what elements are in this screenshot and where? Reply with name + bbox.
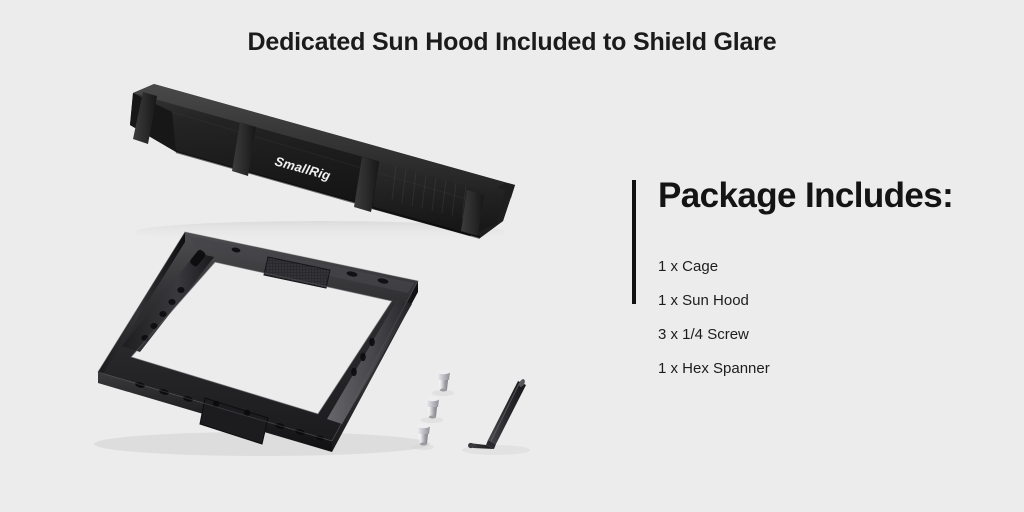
list-item: 3 x 1/4 Screw: [658, 318, 770, 352]
package-includes-list: 1 x Cage 1 x Sun Hood 3 x 1/4 Screw 1 x …: [658, 250, 770, 386]
quarter-inch-screws: [412, 370, 454, 450]
screw: [412, 424, 434, 450]
list-item: 1 x Cage: [658, 250, 770, 284]
hex-spanner: [462, 378, 530, 455]
product-feature-banner: Dedicated Sun Hood Included to Shield Gl…: [0, 0, 1024, 512]
screw: [432, 370, 454, 396]
package-includes-heading: Package Includes:: [658, 176, 953, 216]
list-item: 1 x Hex Spanner: [658, 352, 770, 386]
accent-bar: [632, 180, 636, 304]
sun-hood: SmallRig: [130, 84, 515, 243]
package-includes-panel: Package Includes: 1 x Cage 1 x Sun Hood …: [632, 176, 972, 386]
screw: [421, 397, 443, 423]
list-item: 1 x Sun Hood: [658, 284, 770, 318]
monitor-cage: [94, 232, 430, 456]
